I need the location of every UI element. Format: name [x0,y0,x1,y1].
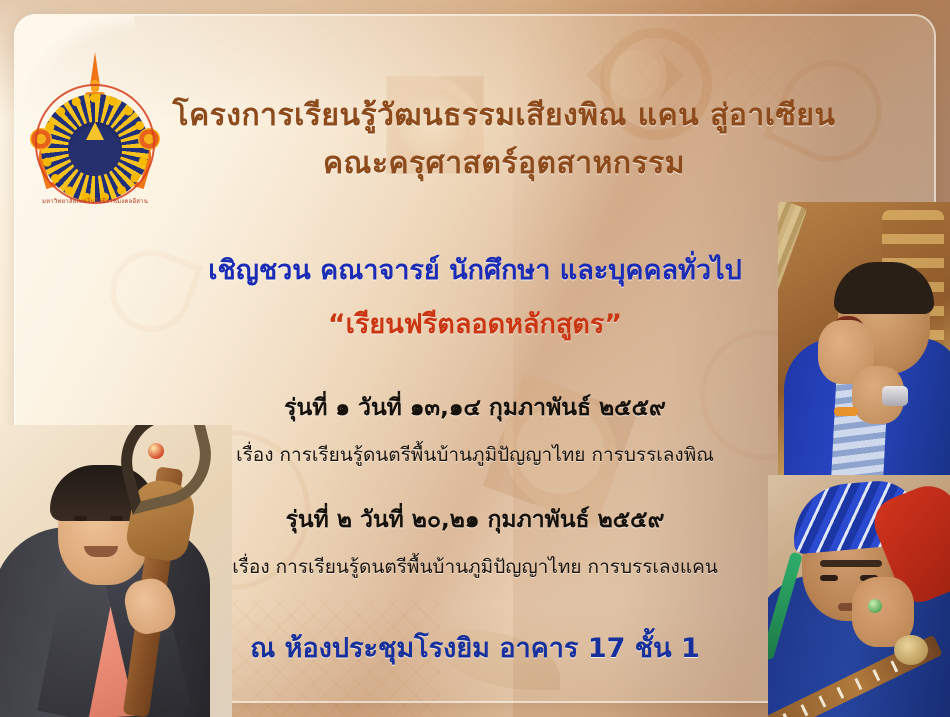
session-2-batch: รุ่นที่ ๒ วันที่ ๒๐,๒๑ กุมภาพันธ์ ๒๕๕๙ [0,502,950,538]
poster-canvas: มหาวิทยาลัยเทคโนโลยีราชมงคลอีสาน โครงการ… [0,0,950,717]
poster-title-line-2: คณะครุศาสตร์อุตสาหกรรม [0,140,950,187]
poster-title-line-1: โครงการเรียนรู้วัฒนธรรมเสียงพิณ แคน สู่อ… [0,92,950,139]
session-1-batch: รุ่นที่ ๑ วันที่ ๑๓,๑๔ กุมภาพันธ์ ๒๕๕๙ [0,390,950,426]
session-2-topic: เรื่อง การเรียนรู้ดนตรีพื้นบ้านภูมิปัญญา… [0,552,950,582]
invitation-line: เชิญชวน คณาจารย์ นักศึกษา และบุคคลทั่วไป [0,248,950,291]
free-course-highlight: “เรียนฟรีตลอดหลักสูตร” [0,302,950,345]
session-1-topic: เรื่อง การเรียนรู้ดนตรีพื้นบ้านภูมิปัญญา… [0,440,950,470]
poster-text-content: โครงการเรียนรู้วัฒนธรรมเสียงพิณ แคน สู่อ… [0,0,950,717]
venue-line: ณ ห้องประชุมโรงยิม อาคาร 17 ชั้น 1 [0,626,950,669]
